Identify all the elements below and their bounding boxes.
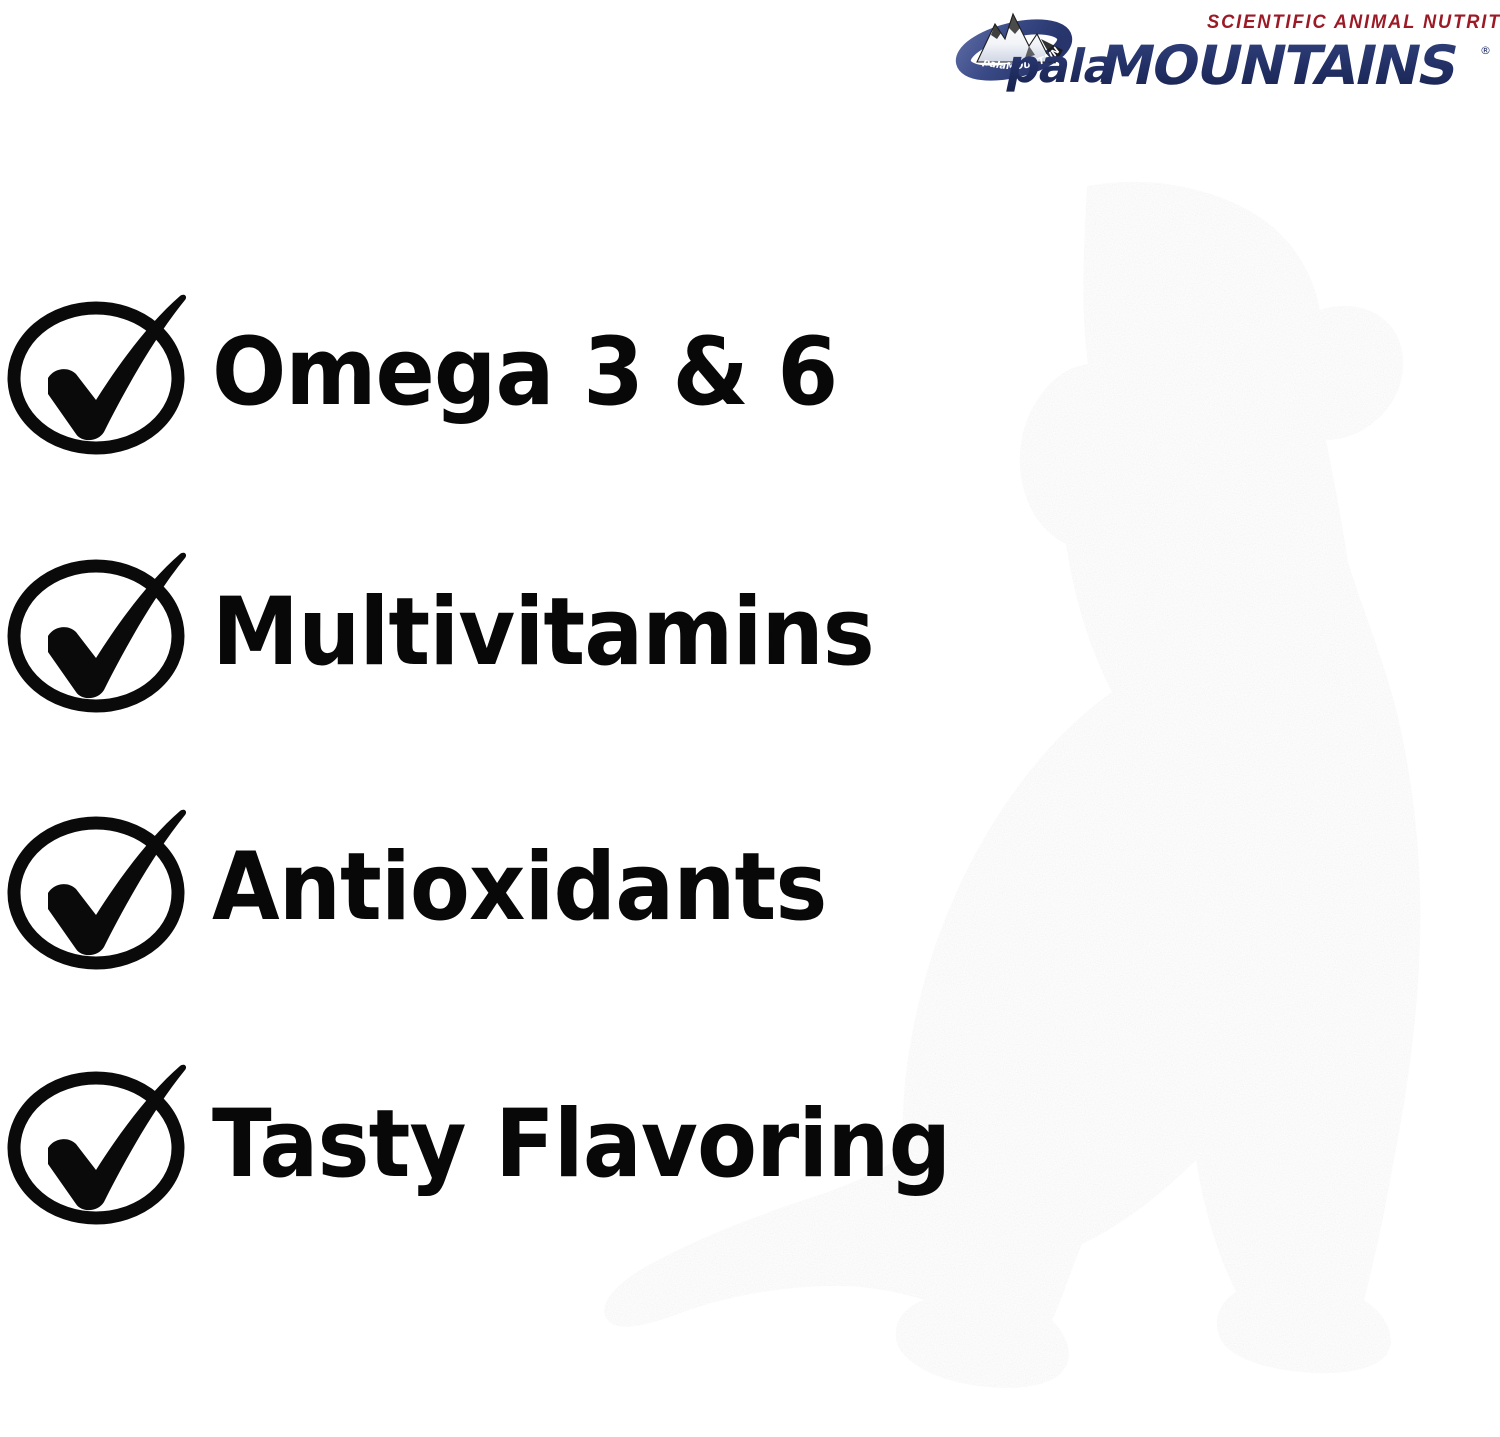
wordmark-registered-mark: ® [1480, 44, 1491, 57]
banner-canvas: palaMOUNTAINS ® SCIENTIFIC ANIMAL NUTRIT… [0, 0, 1500, 1437]
feature-label: Multivitamins [212, 586, 874, 680]
brand-logo: palaMOUNTAINS ® SCIENTIFIC ANIMAL NUTRIT… [955, 4, 1495, 104]
brand-wordmark: pala MOUNTAINS ® [993, 32, 1493, 94]
check-circle-icon [4, 540, 194, 720]
feature-label: Tasty Flavoring [212, 1098, 950, 1192]
feature-label: Antioxidants [212, 841, 827, 935]
feature-label: Omega 3 & 6 [212, 326, 837, 420]
wordmark-mountains: MOUNTAINS [1093, 35, 1462, 94]
check-circle-icon [4, 1052, 194, 1232]
check-circle-icon [4, 797, 194, 977]
check-circle-icon [4, 282, 194, 462]
